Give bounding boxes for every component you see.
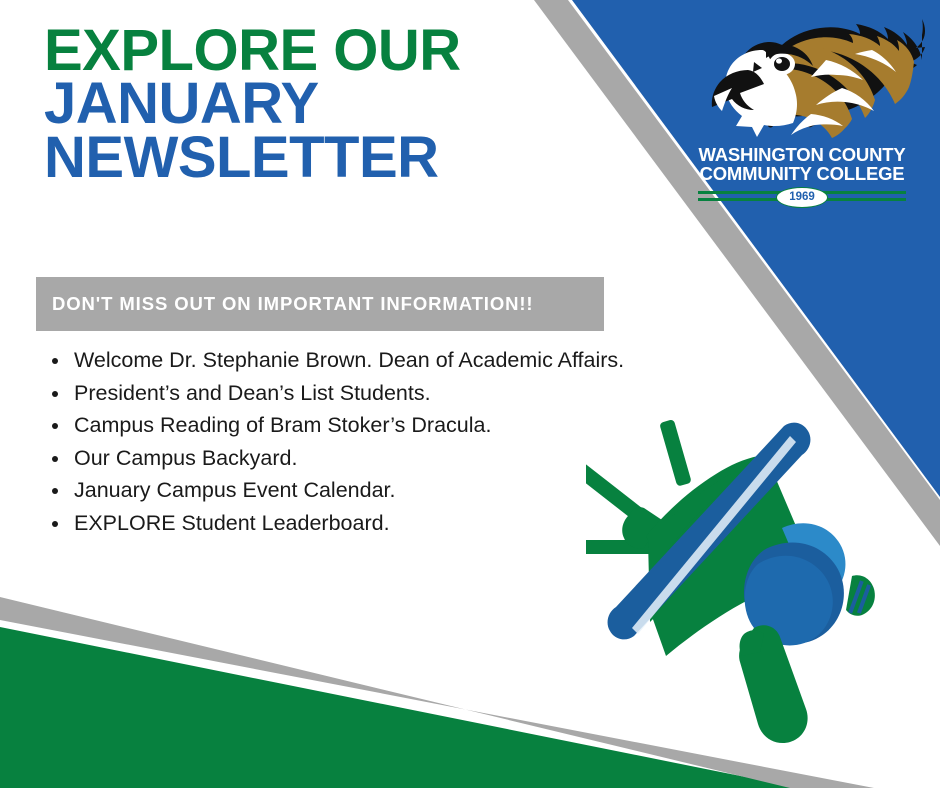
newsletter-contents-list: Welcome Dr. Stephanie Brown. Dean of Aca… — [22, 350, 624, 545]
college-logo: WASHINGTON COUNTY COMMUNITY COLLEGE 1969 — [676, 14, 928, 205]
headline-line-1: EXPLORE OUR — [44, 24, 461, 77]
list-item: Our Campus Backyard. — [46, 448, 624, 470]
list-item-label: EXPLORE Student Leaderboard. — [74, 511, 390, 535]
list-item-label: Campus Reading of Bram Stoker’s Dracula. — [74, 413, 491, 437]
subheading-banner: DON'T MISS OUT ON IMPORTANT INFORMATION!… — [36, 277, 604, 331]
list-item-label: Our Campus Backyard. — [74, 446, 297, 470]
newsletter-poster: EXPLORE OUR JANUARY NEWSLETTER DON'T MIS… — [0, 0, 940, 788]
page-title: EXPLORE OUR JANUARY NEWSLETTER — [44, 24, 461, 184]
logo-founded-year: 1969 — [776, 187, 828, 208]
list-item: Welcome Dr. Stephanie Brown. Dean of Aca… — [46, 350, 624, 372]
list-item-label: President’s and Dean’s List Students. — [74, 381, 431, 405]
logo-wordmark: WASHINGTON COUNTY COMMUNITY COLLEGE — [676, 146, 928, 184]
list-item-label: Welcome Dr. Stephanie Brown. Dean of Aca… — [74, 348, 624, 372]
megaphone-icon — [586, 418, 906, 758]
eagle-head-icon — [676, 14, 928, 144]
headline-line-3: NEWSLETTER — [44, 131, 461, 184]
list-item: Campus Reading of Bram Stoker’s Dracula. — [46, 415, 624, 437]
list-item: EXPLORE Student Leaderboard. — [46, 513, 624, 535]
logo-name-line-2: COMMUNITY COLLEGE — [676, 165, 928, 184]
list-item-label: January Campus Event Calendar. — [74, 478, 395, 502]
logo-rule: 1969 — [698, 187, 906, 205]
subheading-text: DON'T MISS OUT ON IMPORTANT INFORMATION!… — [36, 293, 534, 315]
list-item: January Campus Event Calendar. — [46, 480, 624, 502]
list-item: President’s and Dean’s List Students. — [46, 383, 624, 405]
headline-line-2: JANUARY — [44, 77, 461, 130]
